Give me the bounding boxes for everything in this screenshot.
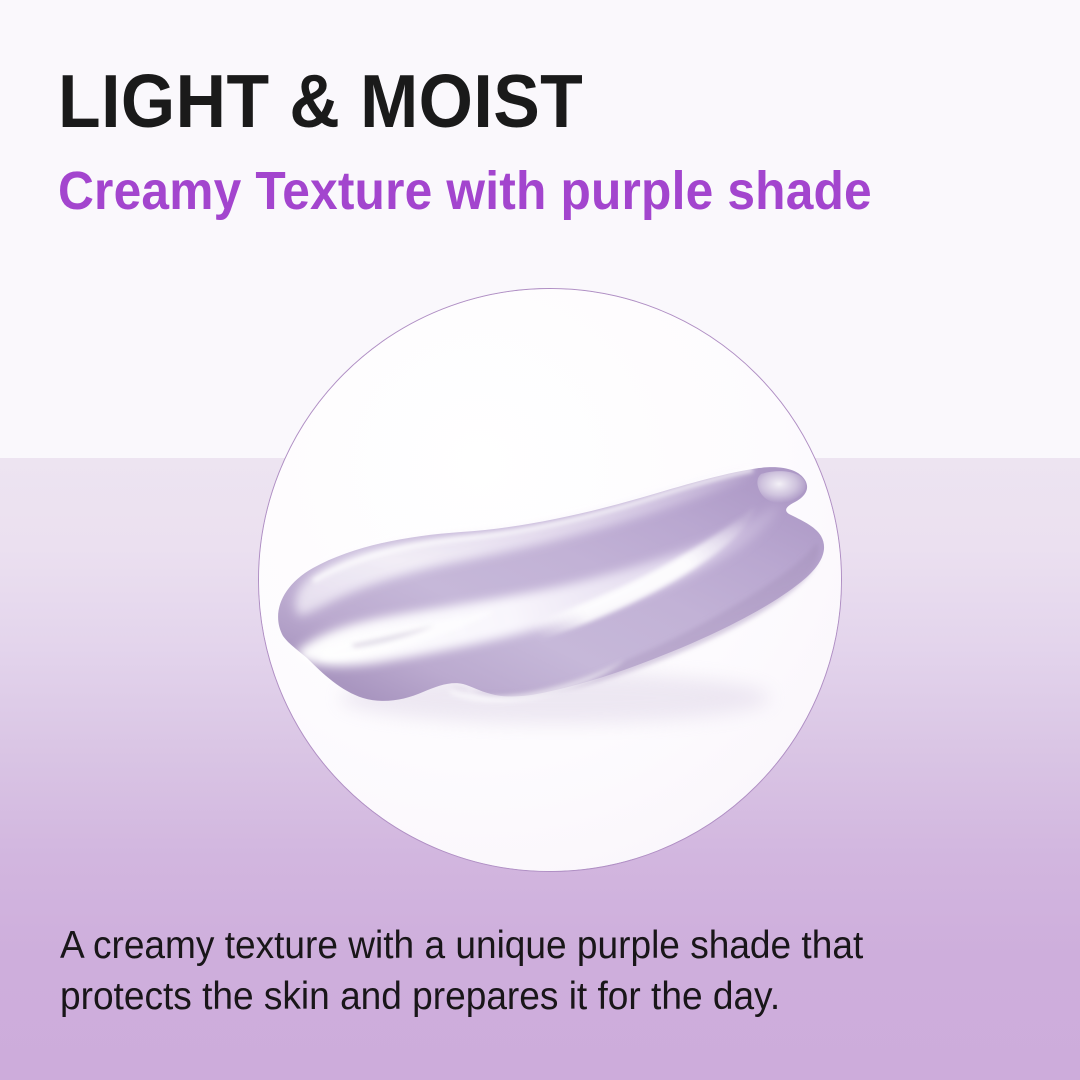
page-subtitle: Creamy Texture with purple shade <box>58 162 941 220</box>
product-texture-circle <box>258 288 842 872</box>
product-feature-canvas: LIGHT & MOIST Creamy Texture with purple… <box>0 0 1080 1080</box>
header-block: LIGHT & MOIST Creamy Texture with purple… <box>58 62 1018 220</box>
circle-sheen <box>259 289 841 871</box>
page-title: LIGHT & MOIST <box>58 62 951 140</box>
description-text: A creamy texture with a unique purple sh… <box>60 920 972 1022</box>
